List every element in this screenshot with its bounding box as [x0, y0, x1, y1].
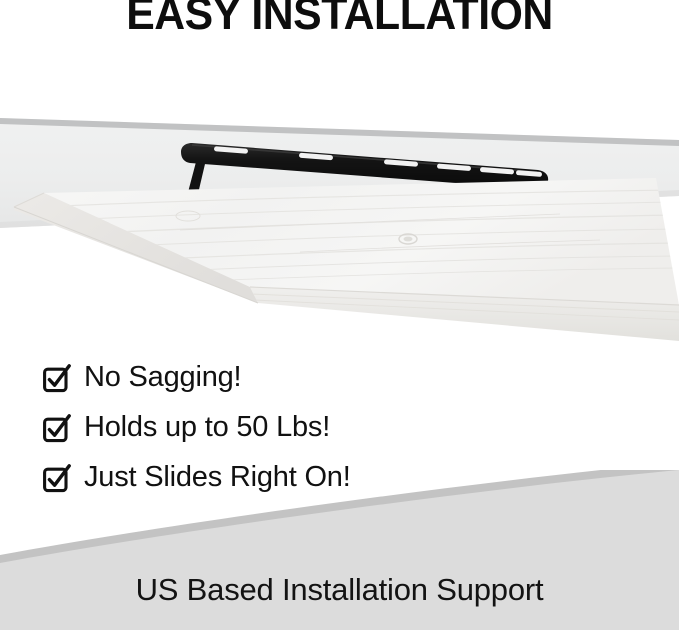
- product-scene: [0, 0, 679, 350]
- checkbox-checked-icon: [42, 363, 72, 393]
- checkbox-checked-icon: [42, 413, 72, 443]
- list-item: Holds up to 50 Lbs!: [42, 402, 462, 452]
- shelf-illustration: [0, 0, 679, 350]
- list-item: No Sagging!: [42, 352, 462, 402]
- feature-label: No Sagging!: [84, 361, 241, 394]
- support-banner: US Based Installation Support: [0, 470, 679, 630]
- banner-text: US Based Installation Support: [0, 572, 679, 608]
- feature-label: Holds up to 50 Lbs!: [84, 411, 330, 444]
- product-infographic: EASY INSTALLATION: [0, 0, 679, 630]
- floating-shelf-board: [14, 178, 679, 341]
